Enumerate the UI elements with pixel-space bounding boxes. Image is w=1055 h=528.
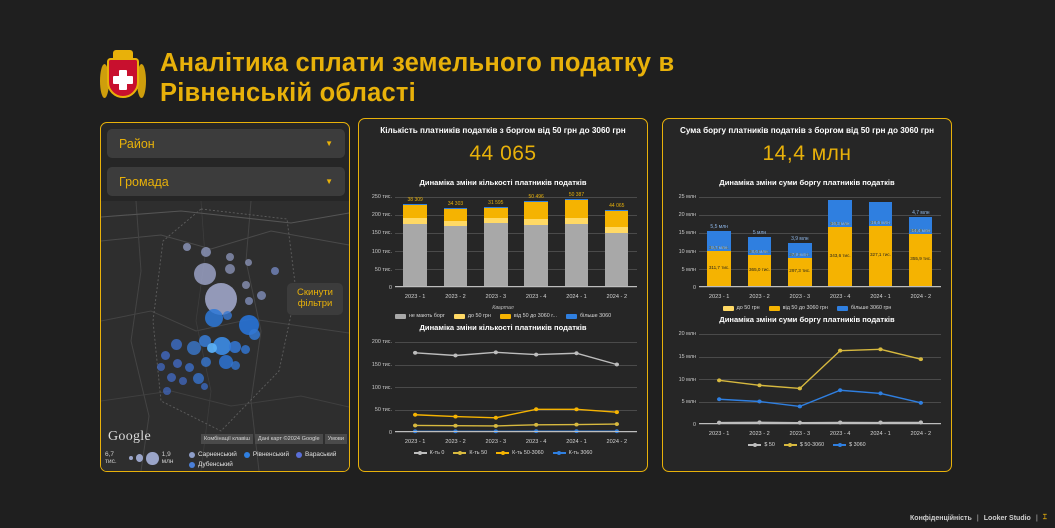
- line-series-group: [699, 334, 941, 424]
- line-point[interactable]: [717, 397, 721, 401]
- legend-swatch-icon: [837, 306, 848, 311]
- legend-dot-icon: [244, 452, 250, 458]
- legend-label: Дубенський: [198, 461, 233, 468]
- line-point[interactable]: [534, 353, 538, 357]
- bar-segment[interactable]: [403, 218, 426, 223]
- debt-card-title: Сума боргу платників податків з боргом в…: [663, 126, 951, 135]
- bar-yellow-label: 8,6 млн: [751, 249, 767, 254]
- x-tick-label: 2023 - 2: [739, 431, 779, 437]
- legend-item[interactable]: $ 3060: [833, 442, 866, 448]
- count-stacked-bar-chart[interactable]: 050 тис.100 тис.150 тис.200 тис.250 тис.…: [365, 195, 641, 303]
- line-point[interactable]: [615, 410, 619, 414]
- y-tick-label: 0: [389, 430, 392, 436]
- debt-card: Сума боргу платників податків з боргом в…: [662, 118, 952, 472]
- legend-swatch-icon: [496, 452, 509, 454]
- x-axis-line: [395, 286, 637, 287]
- map-attribution: Комбінації клавіш Дані карт ©2024 Google…: [201, 434, 347, 444]
- bar-segment[interactable]: 297,3 тис.: [788, 258, 811, 286]
- looker-studio-brand: Looker Studio: [984, 515, 1031, 522]
- bar-segment[interactable]: [605, 210, 628, 211]
- bar-segment[interactable]: [605, 233, 628, 287]
- legend-swatch-icon: [414, 452, 427, 454]
- legend-swatch-icon: [454, 314, 465, 319]
- x-tick-label: 2023 - 3: [780, 294, 820, 300]
- x-tick-label: 2024 - 2: [597, 294, 637, 300]
- legend-dot-icon: [296, 452, 302, 458]
- count-bar-plot: 050 тис.100 тис.150 тис.200 тис.250 тис.…: [395, 197, 637, 287]
- legend-swatch-icon: [453, 452, 466, 454]
- bar-segment[interactable]: [524, 201, 547, 202]
- x-tick-label: 2024 - 1: [860, 431, 900, 437]
- count-card-value: 44 065: [359, 142, 647, 166]
- bar-segment[interactable]: [444, 208, 467, 220]
- legend-item[interactable]: Сарненський: [189, 451, 237, 458]
- x-tick-label: 2023 - 4: [516, 439, 556, 445]
- x-tick-label: 2023 - 4: [820, 294, 860, 300]
- bar-value-label: 355,9 тис.: [910, 256, 931, 261]
- legend-label: $ 3060: [849, 442, 866, 448]
- y-tick-label: 200 тис.: [372, 212, 392, 218]
- legend-item[interactable]: від 50 до 3060 г...: [500, 313, 557, 319]
- bar-group: 38 30934 30331 59550 49650 38744 065: [395, 197, 637, 287]
- bar-slot[interactable]: 355,9 тис.355,9 тис.4,7 млн14,4 млн: [901, 197, 941, 287]
- bar-value-label: 327,1 тис.: [870, 252, 891, 257]
- line-point[interactable]: [757, 383, 761, 387]
- bar-total-label: 34 303: [448, 201, 463, 207]
- bar-blue-label: 3,9 млн: [791, 236, 808, 242]
- legend-label: більше 3060: [580, 313, 611, 319]
- bar-slot[interactable]: 44 065: [597, 197, 637, 287]
- y-tick-label: 250 тис.: [372, 194, 392, 200]
- legend-label: К-ть 3060: [569, 450, 593, 456]
- bar-yellow-label: 7,9 млн: [792, 252, 808, 257]
- community-filter-label: Громада: [119, 175, 169, 189]
- line-point[interactable]: [878, 347, 882, 351]
- debt-bar-plot: 05 млн10 млн15 млн20 млн25 млн311,7 тис.…: [699, 197, 941, 287]
- debt-line-chart-title: Динаміка зміни суми боргу платників пода…: [663, 315, 951, 324]
- line-path[interactable]: [719, 390, 921, 406]
- page-title: Аналітика сплати земельного податку в Рі…: [160, 48, 760, 108]
- legend-swatch-icon: [748, 444, 761, 446]
- y-tick-label: 5 млн: [682, 267, 696, 273]
- dashboard-page: Аналітика сплати земельного податку в Рі…: [0, 0, 1055, 528]
- line-point[interactable]: [717, 378, 721, 382]
- legend-item[interactable]: $ 50: [748, 442, 775, 448]
- legend-label: не мають борг: [409, 313, 445, 319]
- map-size-min-label: 6,7 тис.: [105, 451, 126, 465]
- bar-yellow-label: 16,3 млн: [831, 221, 850, 226]
- bar-segment[interactable]: [524, 219, 547, 225]
- legend-item[interactable]: до 50 грн: [454, 313, 491, 319]
- debt-line-x-labels: 2023 - 12023 - 22023 - 32023 - 42024 - 1…: [699, 431, 941, 437]
- y-tick-label: 0: [389, 285, 392, 291]
- x-tick-label: 2024 - 1: [860, 294, 900, 300]
- line-point[interactable]: [413, 351, 417, 355]
- legend-label: більше 3060 грн: [851, 305, 892, 311]
- legend-item[interactable]: від 50 до 3060 грн: [769, 305, 828, 311]
- x-tick-label: 2023 - 1: [395, 439, 435, 445]
- debt-card-value: 14,4 млн: [663, 142, 951, 166]
- count-line-plot: 050 тис.100 тис.150 тис.200 тис.: [395, 342, 637, 432]
- y-tick-label: 150 тис.: [372, 362, 392, 368]
- bar-segment[interactable]: 327,1 тис.: [869, 226, 892, 286]
- x-tick-label: 2023 - 4: [516, 294, 556, 300]
- bar-segment[interactable]: [605, 211, 628, 227]
- bar-segment[interactable]: [403, 204, 426, 205]
- bar-total-label: 38 309: [408, 197, 423, 203]
- bar-value-label: 297,3 тис.: [789, 268, 810, 273]
- privacy-link[interactable]: Конфіденційність: [910, 515, 972, 522]
- map-attrib-data: Дані карт ©2024 Google: [255, 434, 323, 444]
- bubble-map[interactable]: Скинути фільтри Google Комбінації клавіш…: [101, 201, 349, 471]
- gridline: 0: [699, 424, 941, 425]
- bar-segment[interactable]: [484, 207, 507, 208]
- bar-segment[interactable]: [403, 224, 426, 287]
- x-tick-label: 2023 - 3: [780, 431, 820, 437]
- gridline: 0: [699, 287, 941, 288]
- map-size-legend: 6,7 тис. 1,9 млн: [105, 451, 183, 465]
- y-tick-label: 50 тис.: [375, 267, 392, 273]
- legend-swatch-icon: [784, 444, 797, 446]
- line-path[interactable]: [415, 424, 617, 426]
- count-bar-x-labels: 2023 - 12023 - 22023 - 32023 - 42024 - 1…: [395, 294, 637, 300]
- line-point[interactable]: [534, 407, 538, 411]
- bar-segment[interactable]: 355,9 тис.: [909, 234, 932, 286]
- line-point[interactable]: [919, 401, 923, 405]
- bar-slot[interactable]: 311,7 тис.311,7 тис.5,5 млн9,7 млн: [699, 197, 739, 287]
- legend-label: Рівненський: [253, 451, 289, 458]
- chevron-down-icon: ▼: [325, 139, 333, 148]
- debt-line-legend: $ 50$ 50-3060$ 3060: [663, 442, 951, 448]
- line-point[interactable]: [494, 350, 498, 354]
- count-line-chart-title: Динаміка зміни кількості платників подат…: [359, 323, 647, 332]
- line-point[interactable]: [798, 404, 802, 408]
- x-tick-label: 2023 - 1: [395, 294, 435, 300]
- line-path[interactable]: [415, 409, 617, 418]
- legend-item[interactable]: $ 50-3060: [784, 442, 824, 448]
- x-tick-label: 2024 - 1: [556, 439, 596, 445]
- debt-bar-chart-title: Динаміка зміни суми боргу платників пода…: [663, 178, 951, 187]
- line-point[interactable]: [574, 407, 578, 411]
- debt-line-chart[interactable]: 05 млн10 млн15 млн20 млн 2023 - 12023 - …: [669, 332, 945, 440]
- bar-yellow-label: 9,7 млн: [711, 245, 727, 250]
- bar-slot[interactable]: 50 496: [516, 197, 556, 287]
- y-tick-label: 100 тис.: [372, 385, 392, 391]
- y-tick-label: 10 млн: [679, 249, 696, 255]
- line-point[interactable]: [494, 416, 498, 420]
- line-point[interactable]: [574, 423, 578, 427]
- legend-swatch-icon: [769, 306, 780, 311]
- debt-bar-x-labels: 2023 - 12023 - 22023 - 32023 - 42024 - 1…: [699, 294, 941, 300]
- legend-label: К-ть 0: [430, 450, 445, 456]
- x-tick-label: 2024 - 1: [556, 294, 596, 300]
- legend-label: К-ть 50-3060: [512, 450, 544, 456]
- x-tick-label: 2024 - 2: [901, 431, 941, 437]
- size-dot-medium-icon: [136, 454, 144, 462]
- legend-swatch-icon: [395, 314, 406, 319]
- count-card: Кількість платників податків з боргом ві…: [358, 118, 648, 472]
- district-filter-dropdown[interactable]: Район ▼: [107, 129, 345, 158]
- legend-swatch-icon: [500, 314, 511, 319]
- bar-segment[interactable]: 365,0 тис.: [748, 255, 771, 286]
- bar-segment[interactable]: [605, 227, 628, 233]
- legend-item[interactable]: до 50 грн: [723, 305, 760, 311]
- map-category-legend: Сарненський Рівненський Вараський Дубенс…: [189, 451, 349, 468]
- bar-slot[interactable]: 50 387: [556, 197, 596, 287]
- footer-separator: |: [1036, 515, 1038, 522]
- bar-segment[interactable]: [565, 224, 588, 287]
- x-tick-label: 2023 - 2: [739, 294, 779, 300]
- bar-segment[interactable]: 343,6 тис.: [828, 227, 851, 286]
- bar-slot[interactable]: 327,1 тис.327,1 тис.16,6 млн: [860, 197, 900, 287]
- line-point[interactable]: [574, 351, 578, 355]
- line-point[interactable]: [878, 391, 882, 395]
- chevron-down-icon: ▼: [325, 177, 333, 186]
- bar-total-label: 50 387: [569, 192, 584, 198]
- x-axis-line: [699, 423, 941, 424]
- legend-label: К-ть 50: [469, 450, 487, 456]
- legend-swatch-icon: [833, 444, 846, 446]
- line-point[interactable]: [453, 415, 457, 419]
- debt-line-plot: 05 млн10 млн15 млн20 млн: [699, 334, 941, 424]
- map-attrib-shortcuts[interactable]: Комбінації клавіш: [201, 434, 253, 444]
- bar-slot[interactable]: 34 303: [435, 197, 475, 287]
- count-bar-axis-name: Квартал: [359, 305, 647, 311]
- y-tick-label: 0: [693, 285, 696, 291]
- x-tick-label: 2023 - 2: [435, 294, 475, 300]
- bar-blue-label: 4,7 млн: [912, 210, 929, 216]
- bar-total-label: 31 595: [488, 200, 503, 206]
- y-tick-label: 150 тис.: [372, 230, 392, 236]
- y-tick-label: 20 млн: [679, 331, 696, 337]
- bar-segment[interactable]: [524, 225, 547, 287]
- gridline: 0: [395, 287, 637, 288]
- size-dot-small-icon: [129, 456, 133, 460]
- bar-value-label: 365,0 тис.: [749, 267, 770, 272]
- y-tick-label: 15 млн: [679, 230, 696, 236]
- line-point[interactable]: [838, 349, 842, 353]
- legend-item[interactable]: К-ть 3060: [553, 450, 593, 456]
- bar-slot[interactable]: 38 309: [395, 197, 435, 287]
- y-tick-label: 200 тис.: [372, 339, 392, 345]
- legend-item[interactable]: К-ть 50: [453, 450, 487, 456]
- bar-segment[interactable]: [444, 208, 467, 209]
- x-tick-label: 2023 - 1: [699, 294, 739, 300]
- y-tick-label: 15 млн: [679, 354, 696, 360]
- line-path[interactable]: [415, 352, 617, 364]
- legend-label: Сарненський: [198, 451, 237, 458]
- footer: Конфіденційність | Looker Studio | ⌶: [910, 514, 1047, 522]
- legend-dot-icon: [189, 462, 195, 468]
- legend-label: Вараський: [305, 451, 336, 458]
- legend-label: $ 50-3060: [800, 442, 824, 448]
- legend-label: до 50 грн: [737, 305, 760, 311]
- coat-of-arms-icon: [100, 50, 146, 106]
- line-point[interactable]: [453, 424, 457, 428]
- line-point[interactable]: [413, 413, 417, 417]
- x-axis-line: [699, 286, 941, 287]
- line-point[interactable]: [798, 386, 802, 390]
- size-dot-large-icon: [146, 452, 158, 465]
- y-tick-label: 25 млн: [679, 194, 696, 200]
- legend-dot-icon: [189, 452, 195, 458]
- bar-value-label: 343,6 тис.: [830, 253, 851, 258]
- y-tick-label: 0: [693, 422, 696, 428]
- bar-segment[interactable]: [484, 218, 507, 223]
- line-path[interactable]: [719, 349, 921, 388]
- district-filter-label: Район: [119, 137, 155, 151]
- line-point[interactable]: [757, 400, 761, 404]
- legend-item[interactable]: Дубенський: [189, 461, 233, 468]
- bar-segment[interactable]: [565, 200, 588, 218]
- bar-value-label: 311,7 тис.: [709, 265, 730, 270]
- bar-segment[interactable]: [484, 207, 507, 218]
- line-point[interactable]: [453, 354, 457, 358]
- bar-segment[interactable]: [524, 201, 547, 219]
- count-bar-chart-title: Динаміка зміни кількості платників подат…: [359, 178, 647, 187]
- line-point[interactable]: [615, 363, 619, 367]
- community-filter-dropdown[interactable]: Громада ▼: [107, 167, 345, 196]
- legend-item[interactable]: не мають борг: [395, 313, 445, 319]
- bar-slot[interactable]: 365,0 тис.365,0 тис.5 млн8,6 млн: [739, 197, 779, 287]
- y-tick-label: 10 млн: [679, 377, 696, 383]
- bar-group: 311,7 тис.311,7 тис.5,5 млн9,7 млн365,0 …: [699, 197, 941, 287]
- bar-segment[interactable]: [403, 205, 426, 219]
- bar-total-label: 50 496: [528, 194, 543, 200]
- line-point[interactable]: [919, 357, 923, 361]
- count-line-legend: К-ть 0К-ть 50К-ть 50-3060К-ть 3060: [359, 450, 647, 456]
- legend-item[interactable]: К-ть 50-3060: [496, 450, 544, 456]
- looker-studio-icon: ⌶: [1043, 514, 1047, 522]
- bar-blue-label: 5 млн: [753, 230, 766, 236]
- count-card-title: Кількість платників податків з боргом ві…: [359, 126, 647, 135]
- legend-item[interactable]: Вараський: [296, 451, 336, 458]
- count-line-x-labels: 2023 - 12023 - 22023 - 32023 - 42024 - 1…: [395, 439, 637, 445]
- legend-item[interactable]: більше 3060: [566, 313, 611, 319]
- bar-segment[interactable]: [565, 218, 588, 224]
- map-size-max-label: 1,9 млн: [162, 451, 183, 465]
- bar-total-label: 44 065: [609, 203, 624, 209]
- bar-segment[interactable]: [444, 221, 467, 226]
- y-tick-label: 100 тис.: [372, 249, 392, 255]
- bar-blue-label: 5,5 млн: [710, 224, 727, 230]
- x-tick-label: 2023 - 3: [476, 439, 516, 445]
- x-tick-label: 2023 - 4: [820, 431, 860, 437]
- line-point[interactable]: [615, 422, 619, 426]
- line-point[interactable]: [534, 423, 538, 427]
- line-point[interactable]: [413, 423, 417, 427]
- legend-item[interactable]: Рівненський: [244, 451, 289, 458]
- google-watermark: Google: [108, 429, 151, 445]
- filters-and-map-panel: Район ▼ Громада ▼: [100, 122, 350, 472]
- bar-slot[interactable]: 31 595: [476, 197, 516, 287]
- legend-swatch-icon: [566, 314, 577, 319]
- bar-yellow-label: 14,4 млн: [912, 228, 931, 233]
- legend-label: до 50 грн: [468, 313, 491, 319]
- count-bar-legend: не мають боргдо 50 грнвід 50 до 3060 г..…: [359, 313, 647, 319]
- bar-yellow-label: 16,6 млн: [871, 220, 890, 225]
- x-tick-label: 2023 - 3: [476, 294, 516, 300]
- debt-stacked-bar-chart[interactable]: 05 млн10 млн15 млн20 млн25 млн311,7 тис.…: [669, 195, 945, 303]
- bar-segment[interactable]: 311,7 тис.: [707, 251, 730, 286]
- debt-bar-legend: до 50 грнвід 50 до 3060 грнбільше 3060 г…: [663, 305, 951, 311]
- bar-segment[interactable]: [484, 223, 507, 287]
- footer-separator: |: [977, 515, 979, 522]
- x-tick-label: 2024 - 2: [597, 439, 637, 445]
- y-tick-label: 50 тис.: [375, 407, 392, 413]
- page-header: Аналітика сплати земельного податку в Рі…: [100, 48, 760, 108]
- legend-swatch-icon: [553, 452, 566, 454]
- map-attrib-terms[interactable]: Умови: [325, 434, 347, 444]
- bar-slot[interactable]: 343,6 тис.343,6 тис.16,3 млн: [820, 197, 860, 287]
- reset-filters-button[interactable]: Скинути фільтри: [287, 283, 343, 315]
- legend-label: від 50 до 3060 г...: [514, 313, 557, 319]
- bar-slot[interactable]: 297,3 тис.297,3 тис.3,9 млн7,9 млн: [780, 197, 820, 287]
- legend-label: $ 50: [764, 442, 775, 448]
- legend-item[interactable]: К-ть 0: [414, 450, 445, 456]
- line-point[interactable]: [494, 424, 498, 428]
- count-line-chart[interactable]: 050 тис.100 тис.150 тис.200 тис. 2023 - …: [365, 340, 641, 448]
- gridline: 0: [395, 432, 637, 433]
- line-point[interactable]: [838, 388, 842, 392]
- x-tick-label: 2024 - 2: [901, 294, 941, 300]
- y-tick-label: 20 млн: [679, 212, 696, 218]
- map-legend: 6,7 тис. 1,9 млн Сарненський Рівненський: [105, 451, 349, 468]
- x-axis-line: [395, 431, 637, 432]
- legend-item[interactable]: більше 3060 грн: [837, 305, 892, 311]
- legend-swatch-icon: [723, 306, 734, 311]
- x-tick-label: 2023 - 1: [699, 431, 739, 437]
- x-tick-label: 2023 - 2: [435, 439, 475, 445]
- y-tick-label: 5 млн: [682, 399, 696, 405]
- bar-segment[interactable]: [565, 199, 588, 200]
- line-series-group: [395, 342, 637, 432]
- bar-segment[interactable]: [444, 226, 467, 287]
- legend-label: від 50 до 3060 грн: [783, 305, 828, 311]
